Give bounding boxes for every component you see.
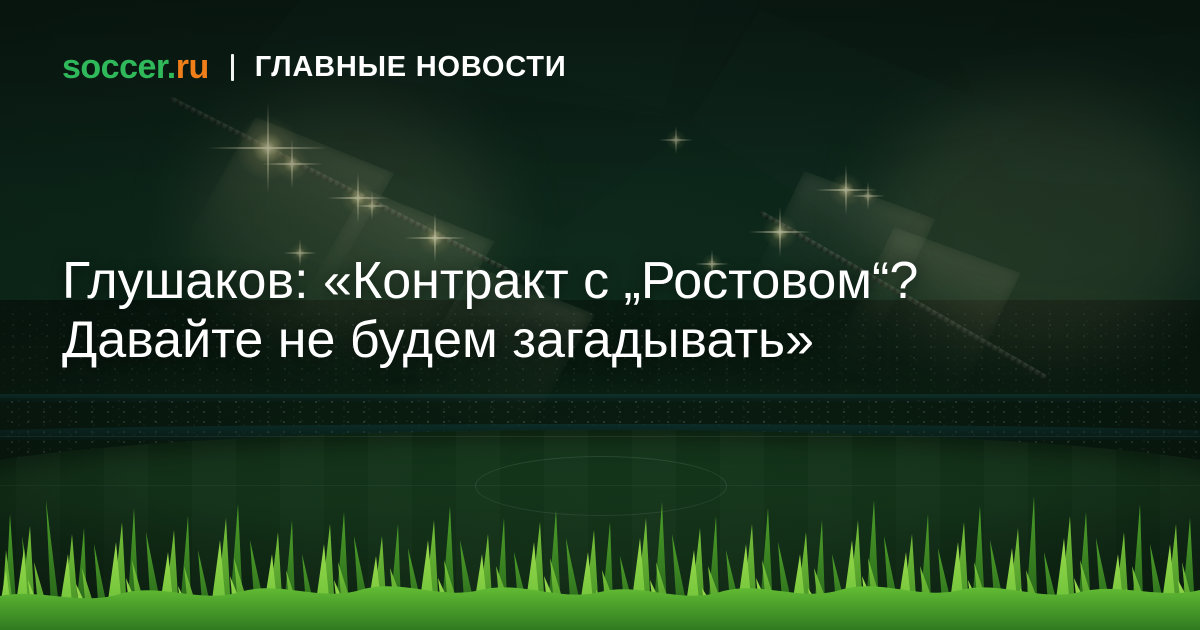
brand-separator <box>231 54 234 81</box>
soccer-ru-logo[interactable]: soccer.ru <box>62 50 209 84</box>
share-card: soccer.ru ГЛАВНЫЕ НОВОСТИ Глушаков: «Кон… <box>0 0 1200 630</box>
brand-bar: soccer.ru ГЛАВНЫЕ НОВОСТИ <box>62 50 566 84</box>
logo-dot: . <box>167 48 176 86</box>
headline-line-1: Глушаков: «Контракт с „Ростовом“? <box>62 252 1152 311</box>
logo-tld: ru <box>176 48 209 86</box>
kicker-label: ГЛАВНЫЕ НОВОСТИ <box>255 53 567 82</box>
logo-word: soccer <box>62 48 167 86</box>
headline-line-2: Давайте не будем загадывать» <box>62 311 1152 370</box>
headline: Глушаков: «Контракт с „Ростовом“? Давайт… <box>62 252 1152 370</box>
grass-foreground <box>0 470 1200 630</box>
